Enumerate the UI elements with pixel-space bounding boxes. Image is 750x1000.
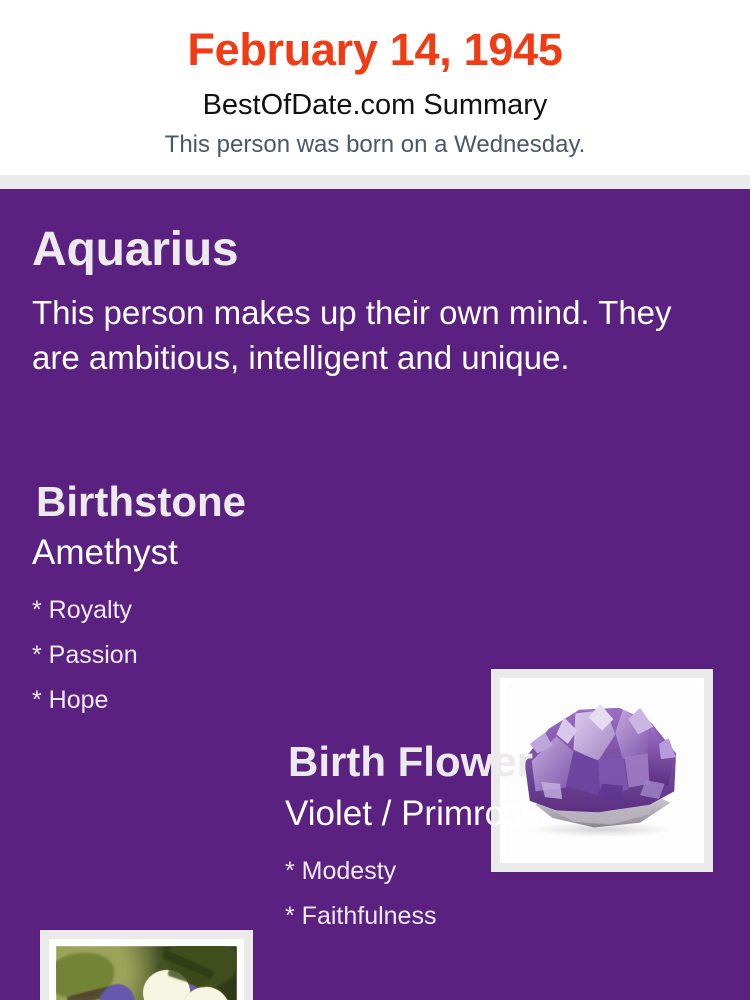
content-panel: Aquarius This person makes up their own … bbox=[0, 189, 750, 1000]
list-item: * Royalty bbox=[32, 588, 138, 633]
birth-flower-image-mat bbox=[49, 939, 244, 1000]
birth-flower-image bbox=[40, 930, 253, 1000]
header-divider bbox=[0, 175, 750, 189]
page-title: February 14, 1945 bbox=[0, 24, 750, 76]
list-item: * Faithfulness bbox=[285, 894, 436, 939]
birth-flower-trait-list: * Modesty * Faithfulness bbox=[285, 849, 436, 939]
list-item: * Passion bbox=[32, 633, 138, 678]
birthstone-name: Amethyst bbox=[32, 532, 178, 574]
birth-flower-heading: Birth Flower bbox=[288, 737, 533, 787]
zodiac-description: This person makes up their own mind. The… bbox=[32, 290, 692, 380]
list-item: * Hope bbox=[32, 678, 138, 723]
card-header: February 14, 1945 BestOfDate.com Summary… bbox=[0, 0, 750, 175]
birthday-summary-card: February 14, 1945 BestOfDate.com Summary… bbox=[0, 0, 750, 1000]
site-subtitle: BestOfDate.com Summary bbox=[0, 88, 750, 122]
weekday-statement: This person was born on a Wednesday. bbox=[0, 131, 750, 159]
birthstone-trait-list: * Royalty * Passion * Hope bbox=[32, 588, 138, 723]
zodiac-sign-name: Aquarius bbox=[32, 222, 238, 278]
violet-primrose-icon bbox=[56, 946, 237, 1000]
birthstone-heading: Birthstone bbox=[36, 477, 246, 527]
list-item: * Modesty bbox=[285, 849, 436, 894]
birth-flower-name: Violet / Primrose bbox=[285, 793, 541, 835]
